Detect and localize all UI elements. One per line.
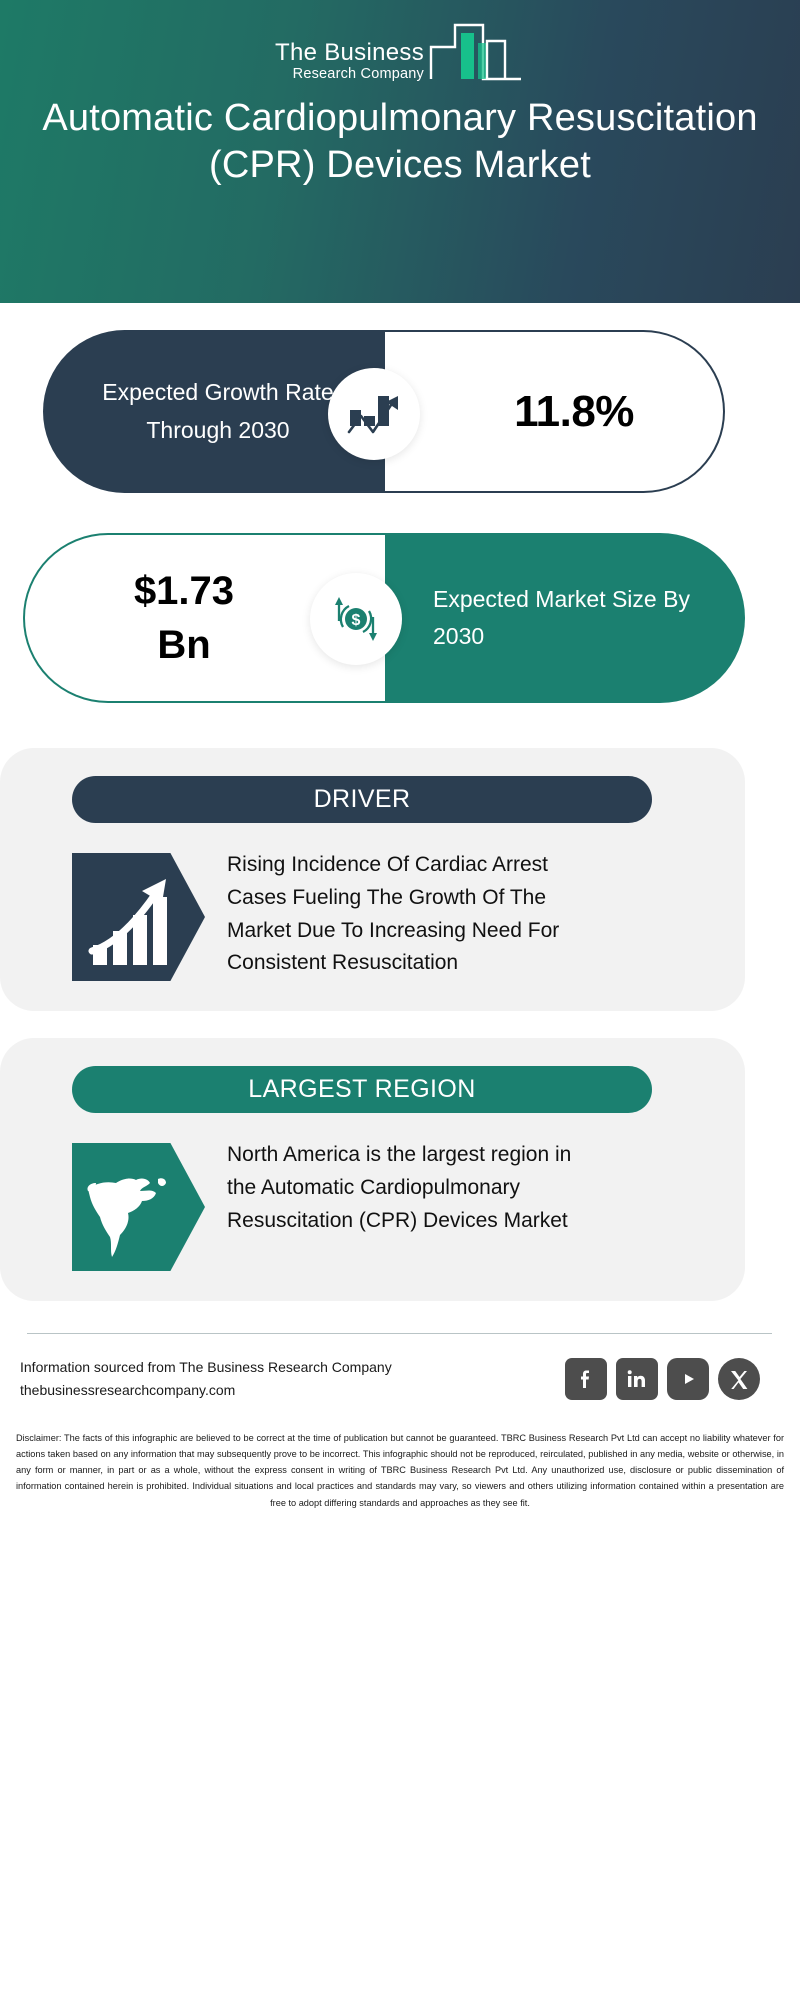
market-size-label-block: Expected Market Size By 2030 (385, 533, 745, 703)
footer-source-line2[interactable]: thebusinessresearchcompany.com (20, 1379, 392, 1402)
disclaimer-text: Disclaimer: The facts of this infographi… (16, 1430, 784, 1510)
footer-source-line1: Information sourced from The Business Re… (20, 1356, 392, 1379)
driver-title-pill: DRIVER (72, 776, 652, 823)
company-logo: The Business Research Company (0, 16, 800, 88)
driver-title: DRIVER (314, 785, 411, 814)
largest-region-text: North America is the largest region in t… (227, 1137, 587, 1237)
growth-bars-arrow-icon (72, 853, 205, 981)
driver-body: Rising Incidence Of Cardiac Arrest Cases… (0, 847, 745, 981)
x-twitter-icon[interactable] (718, 1358, 760, 1400)
svg-text:$: $ (352, 612, 361, 629)
logo-line1: The Business (275, 40, 424, 65)
driver-panel: DRIVER Rising Incidence Of Cardiac Arres… (0, 748, 745, 1011)
largest-region-title-pill: LARGEST REGION (72, 1066, 652, 1113)
bar-chart-logo-icon (427, 17, 525, 88)
footer-source: Information sourced from The Business Re… (20, 1356, 392, 1402)
youtube-icon[interactable] (667, 1358, 709, 1400)
social-links (565, 1358, 760, 1400)
market-size-value-line2: Bn (157, 623, 210, 667)
footer-row: Information sourced from The Business Re… (0, 1334, 800, 1402)
market-size-value-line1: $1.73 (134, 569, 234, 613)
stat-card-growth-rate: Expected Growth Rate Through 2030 11.8% (0, 330, 800, 520)
stat-card-market-size: $1.73 Bn Expected Market Size By 2030 $ (0, 533, 800, 728)
facebook-icon[interactable] (565, 1358, 607, 1400)
page-title: Automatic Cardiopulmonary Resuscitation … (40, 95, 760, 189)
growth-rate-value: 11.8% (514, 387, 634, 437)
header-banner: The Business Research Company Automatic … (0, 0, 800, 303)
growth-rate-label: Expected Growth Rate Through 2030 (73, 374, 363, 449)
growth-rate-value-block: 11.8% (385, 330, 725, 493)
dollar-cycle-icon: $ (310, 573, 402, 665)
market-size-value: $1.73 Bn (134, 564, 234, 672)
infographic-page: The Business Research Company Automatic … (0, 0, 800, 2000)
market-size-label: Expected Market Size By 2030 (433, 581, 715, 656)
driver-text: Rising Incidence Of Cardiac Arrest Cases… (227, 847, 587, 980)
north-america-map-icon (72, 1143, 205, 1271)
largest-region-panel: LARGEST REGION North America is the larg… (0, 1038, 745, 1301)
logo-text: The Business Research Company (275, 40, 424, 88)
linkedin-icon[interactable] (616, 1358, 658, 1400)
largest-region-body: North America is the largest region in t… (0, 1137, 745, 1271)
largest-region-title: LARGEST REGION (248, 1075, 475, 1104)
logo-line2: Research Company (275, 66, 424, 83)
growth-chart-arrow-icon (328, 368, 420, 460)
